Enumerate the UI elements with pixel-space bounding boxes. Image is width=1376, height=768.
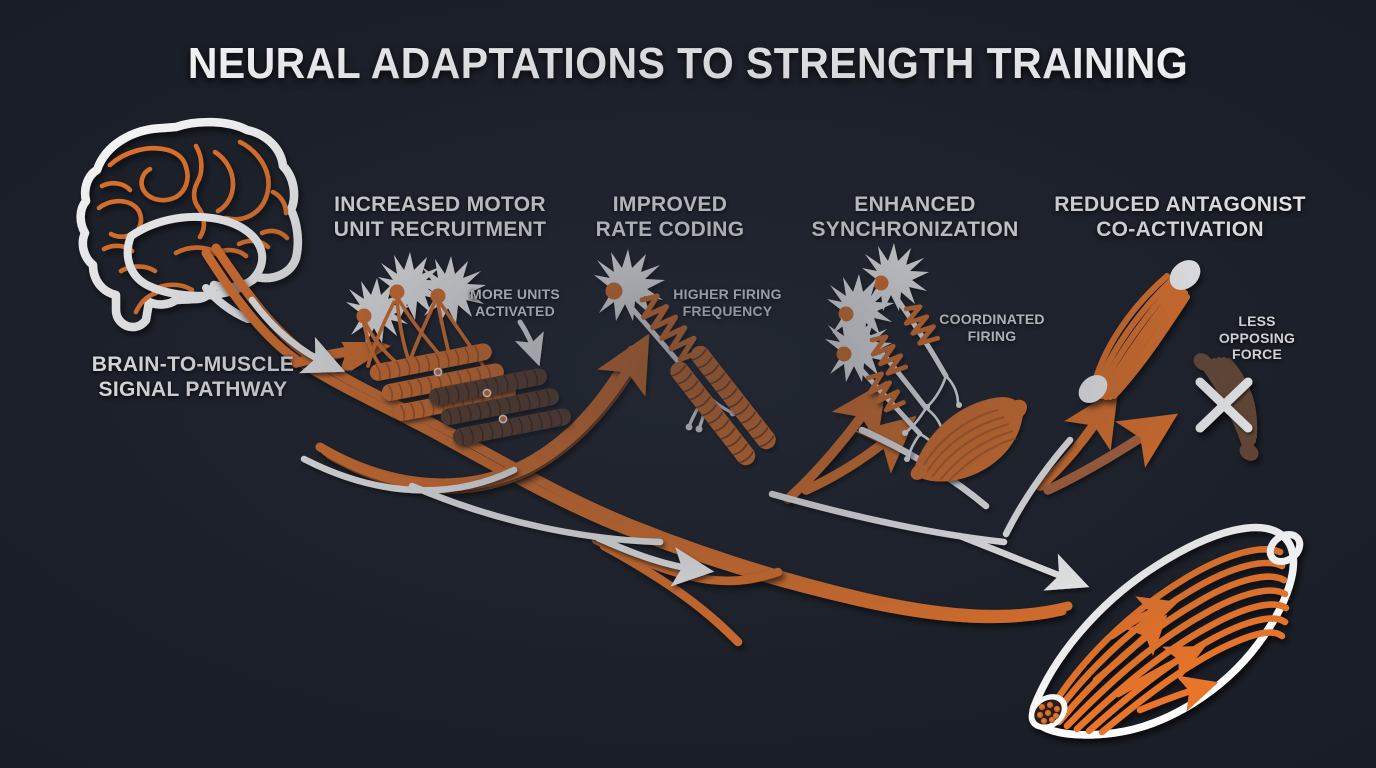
brain-illustration — [81, 110, 298, 327]
annotation-coordinated-firing: COORDINATED FIRING — [928, 311, 1056, 344]
annot-arrow-more-units — [520, 322, 536, 356]
annotation-more-units-activated: MORE UNITS ACTIVATED — [452, 286, 578, 319]
white-arrow-6 — [960, 536, 1076, 582]
arrow-to-sync — [788, 396, 876, 499]
muscle-belly-fibers — [1049, 549, 1286, 732]
infographic-canvas: NEURAL ADAPTATIONS TO STRENGTH TRAINING … — [0, 0, 1376, 768]
label-brain-to-muscle-signal-pathway: BRAIN-TO-MUSCLE SIGNAL PATHWAY — [68, 353, 318, 403]
annotation-higher-firing-frequency: HIGHER FIRING FREQUENCY — [660, 286, 795, 319]
agonist-fibers — [1093, 276, 1187, 397]
arrow-to-sync-muscle — [806, 428, 902, 490]
muscle-distal-tendon — [1265, 529, 1305, 567]
white-arrow-5 — [772, 494, 1004, 542]
burst-2 — [866, 332, 908, 378]
page-title: NEURAL ADAPTATIONS TO STRENGTH TRAINING — [48, 38, 1328, 90]
muscle-fiber-bundle-mixed — [368, 339, 572, 450]
heading-improved-rate-coding: IMPROVED RATE CODING — [560, 193, 780, 243]
target-muscle-belly — [1022, 528, 1305, 738]
muscle-fiber-pair — [666, 342, 779, 469]
heading-increased-motor-unit-recruitment: INCREASED MOTOR UNIT RECRUITMENT — [300, 193, 580, 243]
heading-reduced-antagonist-co-activation: REDUCED ANTAGONIST CO-ACTIVATION — [1040, 193, 1320, 243]
annotation-less-opposing-force: LESS OPPOSING FORCE — [1198, 313, 1316, 363]
agonist-muscle-spindle — [1073, 254, 1206, 409]
antagonist-muscle-spindle — [1190, 350, 1262, 465]
heading-enhanced-synchronization: ENHANCED SYNCHRONIZATION — [800, 193, 1030, 243]
